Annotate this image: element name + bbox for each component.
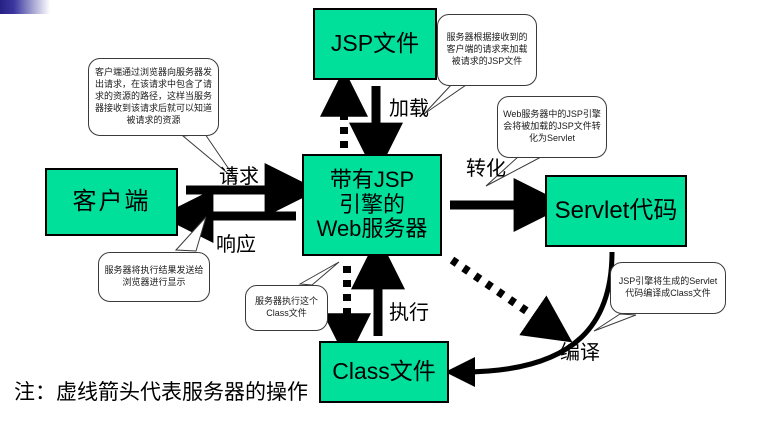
arrow-label-request: 请求 (219, 160, 259, 189)
callout-response-text: 服务器将执行结果发送给浏览器进行显示 (104, 265, 204, 289)
callout-request-text: 客户端通过浏览器向服务器发出请求，在该请求中包含了请求的资源的路径，这样当服务器… (94, 67, 213, 126)
legend-note: 注：虚线箭头代表服务器的操作 (14, 376, 308, 406)
callout-load-text: 服务器根据接收到的客户端的请求来加载被请求的JSP文件 (443, 32, 531, 68)
node-servlet-code-label: Servlet代码 (555, 198, 678, 225)
arrow-label-transform: 转化 (466, 152, 506, 181)
diagram-canvas: JSP文件 客户端 带有JSP 引擎的 Web服务器 Servlet代码 Cla… (0, 0, 758, 424)
node-web-server-label: 带有JSP 引擎的 Web服务器 (317, 168, 428, 242)
node-web-server-line1: 带有JSP (317, 168, 428, 193)
callout-execute: 服务器执行这个Class文件 (245, 285, 328, 331)
callout-response: 服务器将执行结果发送给浏览器进行显示 (98, 252, 210, 302)
callout-compile: JSP引擎将生成的Servlet代码编译成Class文件 (610, 262, 726, 314)
node-client-label: 客户端 (73, 189, 151, 216)
callout-transform: Web服务器中的JSP引擎会将被加载的JSP文件转化为Servlet (497, 96, 607, 158)
arrow-label-response: 响应 (216, 228, 256, 257)
callout-tail-load (424, 84, 466, 114)
arrow-label-compile: 编译 (560, 336, 600, 365)
callout-tail-compile (594, 314, 636, 331)
node-class-file[interactable]: Class文件 (319, 341, 449, 403)
callout-execute-text: 服务器执行这个Class文件 (251, 296, 322, 320)
decorative-gradient-bar (0, 0, 50, 14)
callout-load: 服务器根据接收到的客户端的请求来加载被请求的JSP文件 (437, 14, 537, 86)
node-web-server-line3: Web服务器 (317, 217, 428, 242)
callout-transform-text: Web服务器中的JSP引擎会将被加载的JSP文件转化为Servlet (503, 109, 601, 145)
arrow-label-execute: 执行 (389, 296, 429, 325)
node-web-server-line2: 引擎的 (317, 193, 428, 218)
callout-tail-execute (300, 262, 339, 285)
node-jsp-file[interactable]: JSP文件 (313, 8, 437, 80)
node-servlet-code[interactable]: Servlet代码 (545, 175, 687, 247)
arrow-label-load: 加载 (389, 92, 429, 121)
arrow-compile-dashed-diagonal (452, 260, 550, 327)
callout-request: 客户端通过浏览器向服务器发出请求，在该请求中包含了请求的资源的路径，这样当服务器… (88, 58, 219, 136)
node-web-server[interactable]: 带有JSP 引擎的 Web服务器 (302, 154, 442, 256)
callout-tail-response (176, 217, 206, 251)
node-jsp-file-label: JSP文件 (331, 31, 419, 57)
callout-compile-text: JSP引擎将生成的Servlet代码编译成Class文件 (616, 276, 720, 300)
node-client[interactable]: 客户端 (45, 168, 178, 236)
node-class-file-label: Class文件 (332, 359, 436, 385)
